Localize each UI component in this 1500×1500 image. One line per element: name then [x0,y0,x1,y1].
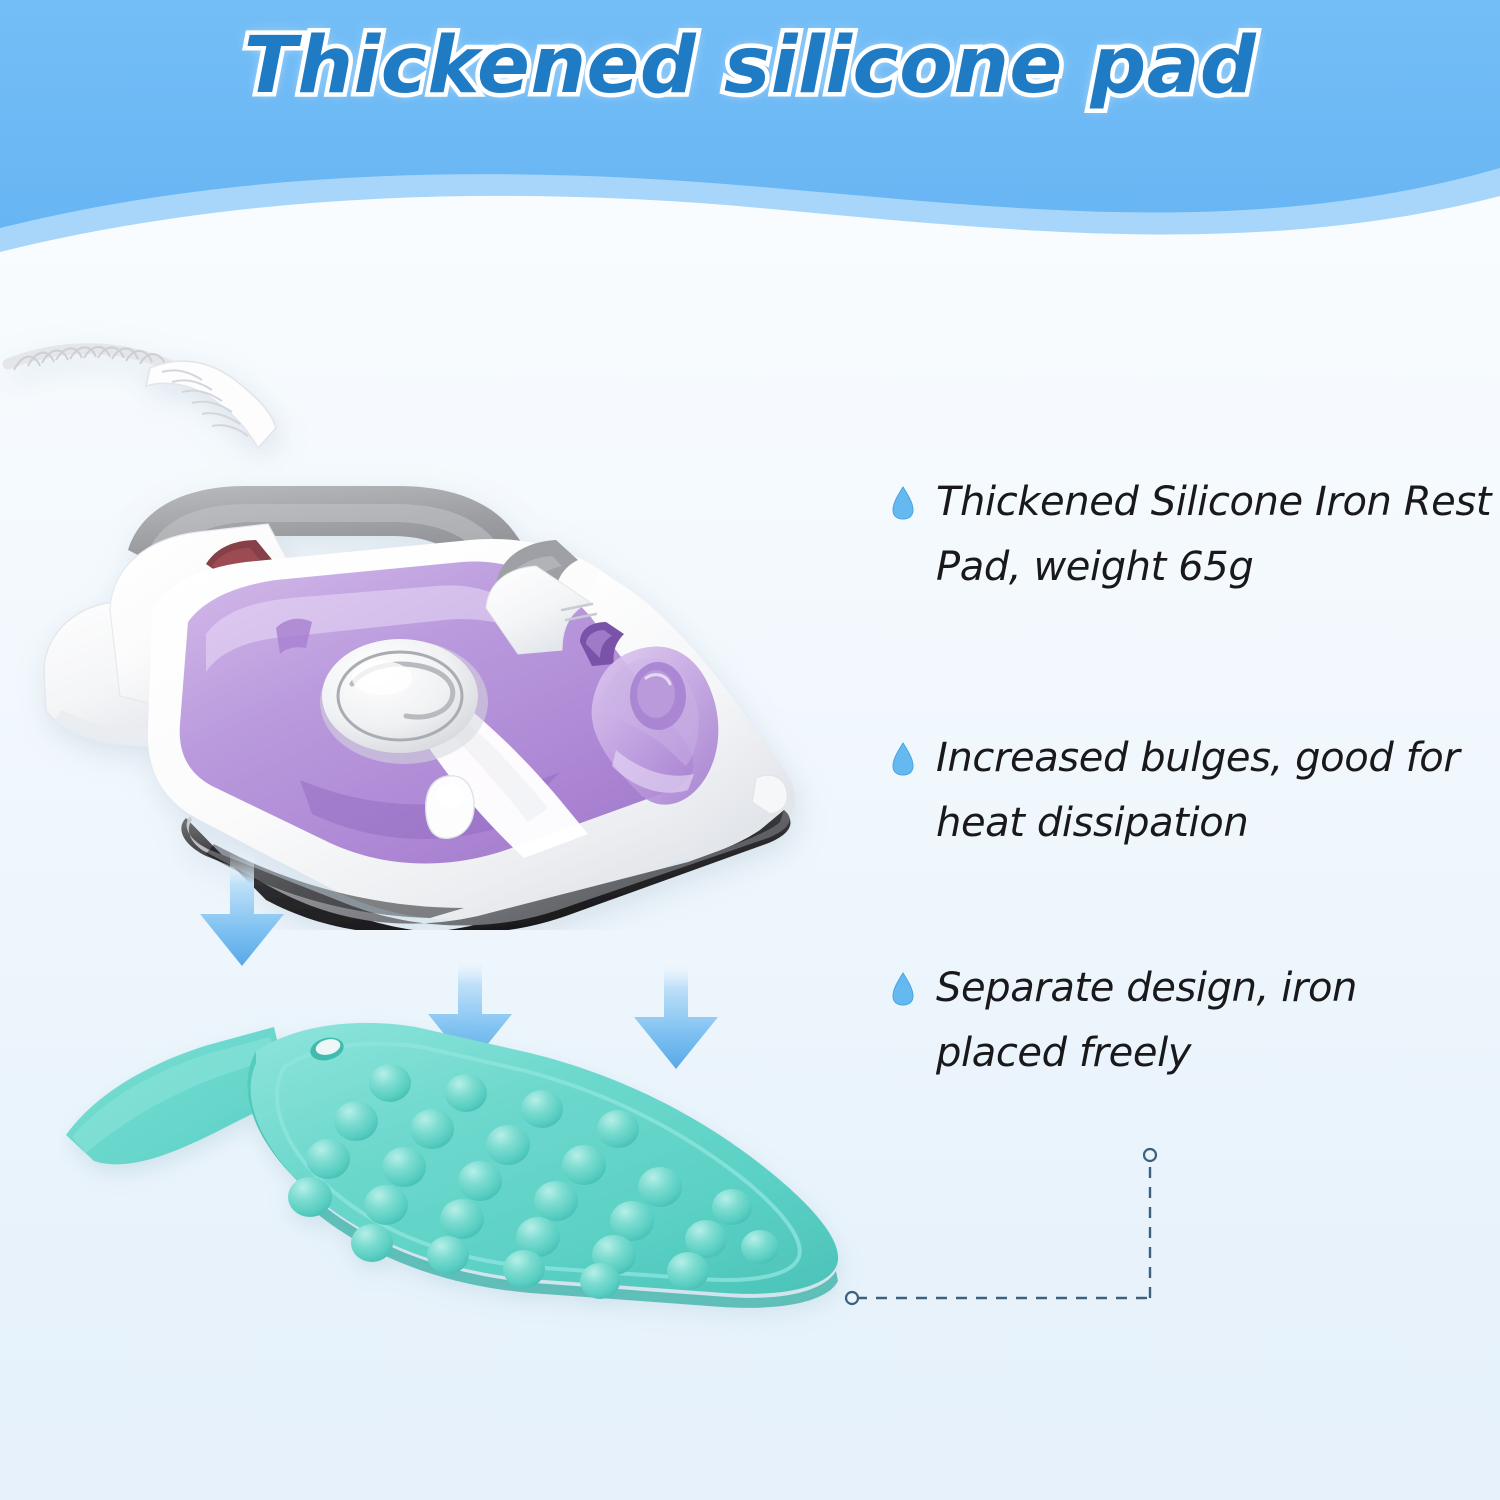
feature-line-3b: placed freely [936,1030,1191,1076]
steam-iron-image [0,310,860,930]
iron-drop-bullet-icon [892,972,914,1006]
measure-endpoint-left [846,1292,858,1304]
steam-control-knob [320,639,488,764]
feature-text-2: Increased bulges, good for heat dissipat… [936,726,1492,856]
pad-group [66,1023,838,1308]
feature-text-3: Separate design, iron placed freely [936,956,1492,1086]
iron-drop-bullet-icon [892,486,914,520]
feature-item-3: Separate design, iron placed freely [892,956,1492,1086]
feature-line-3a: Separate design, iron [936,965,1357,1011]
feature-line-2a: Increased bulges, good for [936,735,1459,781]
cord-strain-relief [146,361,276,448]
feature-item-1: Thickened Silicone Iron Rest Pad, weight… [892,470,1492,600]
down-arrow-icon-1 [196,852,288,968]
header-banner: Thickened silicone pad [0,0,1500,260]
silicone-pad-image [60,975,890,1335]
feature-line-1a: Thickened Silicone Iron Rest [936,479,1491,525]
page-title: Thickened silicone pad [0,18,1500,116]
iron-drop-bullet-icon [892,742,914,776]
spray-button [426,776,474,839]
measure-guides [830,1130,1210,1310]
feature-line-1b: Pad, weight 65g [936,544,1253,590]
feature-line-2b: heat dissipation [936,800,1248,846]
iron-group [8,347,795,930]
measure-endpoint-top [1144,1149,1156,1161]
feature-item-2: Increased bulges, good for heat dissipat… [892,726,1492,856]
feature-text-1: Thickened Silicone Iron Rest Pad, weight… [936,470,1492,600]
infographic-page: Thickened silicone pad [0,0,1500,1500]
